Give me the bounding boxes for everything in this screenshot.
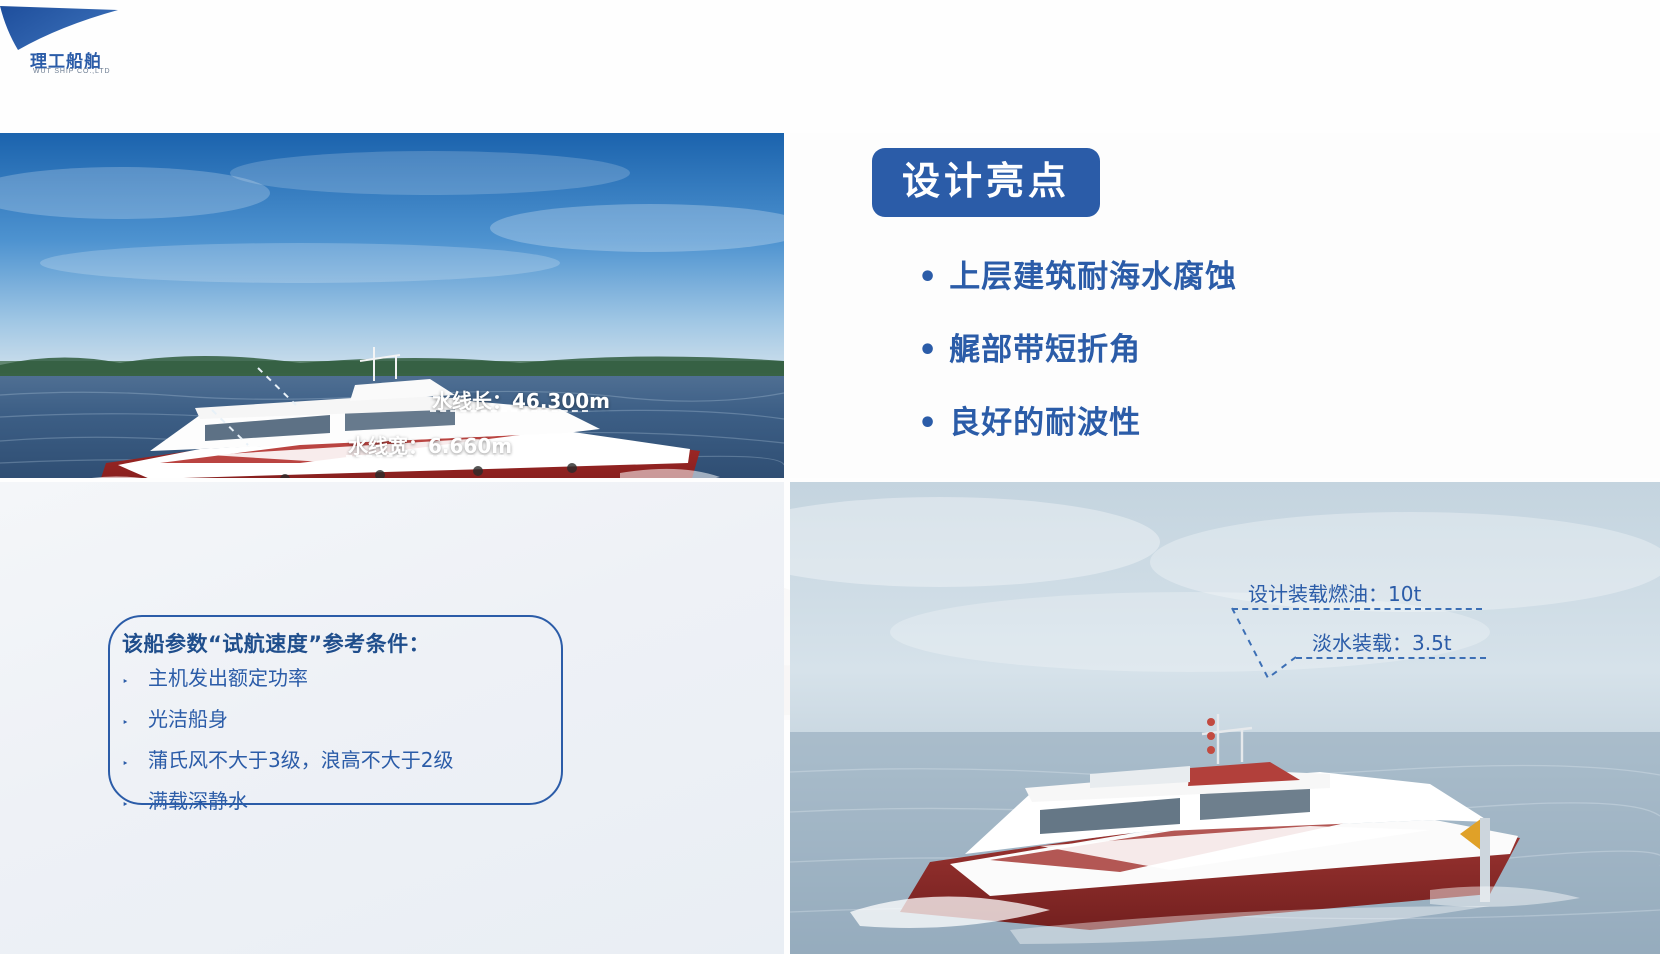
list-item: • 艉部带短折角 bbox=[918, 324, 1237, 369]
triangle-bullet-icon: ‣ bbox=[122, 798, 148, 811]
highlight-label: 良好的耐波性 bbox=[949, 397, 1141, 442]
fresh-water-load-leader bbox=[1296, 657, 1486, 659]
waterline-width-leader bbox=[346, 455, 504, 457]
logo-name-en: WUT SHIP CO.,LTD bbox=[33, 68, 110, 75]
highlight-label: 艉部带短折角 bbox=[949, 324, 1141, 369]
waterline-length-leader bbox=[430, 410, 588, 412]
list-item: ‣ 满载深静水 bbox=[122, 785, 453, 814]
list-item: ‣ 蒲氏风不大于3级，浪高不大于2级 bbox=[122, 744, 453, 773]
triangle-bullet-icon: ‣ bbox=[122, 675, 148, 688]
list-item: ‣ 主机发出额定功率 bbox=[122, 662, 453, 691]
highlights-list: • 上层建筑耐海水腐蚀 • 艉部带短折角 • 良好的耐波性 bbox=[918, 251, 1237, 470]
callout-list: ‣ 主机发出额定功率 ‣ 光洁船身 ‣ 蒲氏风不大于3级，浪高不大于2级 ‣ 满… bbox=[122, 662, 453, 826]
callout-title: 该船参数“试航速度”参考条件： bbox=[122, 628, 430, 658]
ship-photo-sea bbox=[0, 133, 784, 478]
bullet-dot-icon: • bbox=[918, 336, 938, 366]
brand-logo: 理工船舶 WUT SHIP CO.,LTD bbox=[0, 0, 215, 95]
list-item: • 上层建筑耐海水腐蚀 bbox=[918, 251, 1237, 296]
design-highlights-panel: 设计亮点 • 上层建筑耐海水腐蚀 • 艉部带短折角 • 良好的耐波性 bbox=[790, 133, 1660, 478]
leader-lines-top-photo bbox=[0, 133, 784, 478]
triangle-bullet-icon: ‣ bbox=[122, 716, 148, 729]
list-item: • 良好的耐波性 bbox=[918, 397, 1237, 442]
condition-label: 光洁船身 bbox=[148, 703, 228, 732]
list-item: ‣ 光洁船身 bbox=[122, 703, 453, 732]
triangle-bullet-icon: ‣ bbox=[122, 757, 148, 770]
ship-render-image bbox=[790, 482, 1660, 954]
condition-label: 满载深静水 bbox=[148, 785, 248, 814]
bullet-dot-icon: • bbox=[918, 263, 938, 293]
bullet-dot-icon: • bbox=[918, 409, 938, 439]
slide-root: 理工船舶 WUT SHIP CO.,LTD bbox=[0, 0, 1660, 954]
highlight-label: 上层建筑耐海水腐蚀 bbox=[949, 251, 1237, 296]
design-fuel-load-label: 设计装载燃油：10t bbox=[1248, 578, 1421, 607]
condition-label: 蒲氏风不大于3级，浪高不大于2级 bbox=[148, 744, 453, 773]
design-fuel-load-leader bbox=[1232, 608, 1482, 610]
page-title: 设计亮点 bbox=[872, 148, 1100, 217]
fresh-water-load-label: 淡水装载：3.5t bbox=[1312, 627, 1452, 656]
leader-lines-render bbox=[790, 482, 1660, 954]
condition-label: 主机发出额定功率 bbox=[148, 662, 308, 691]
